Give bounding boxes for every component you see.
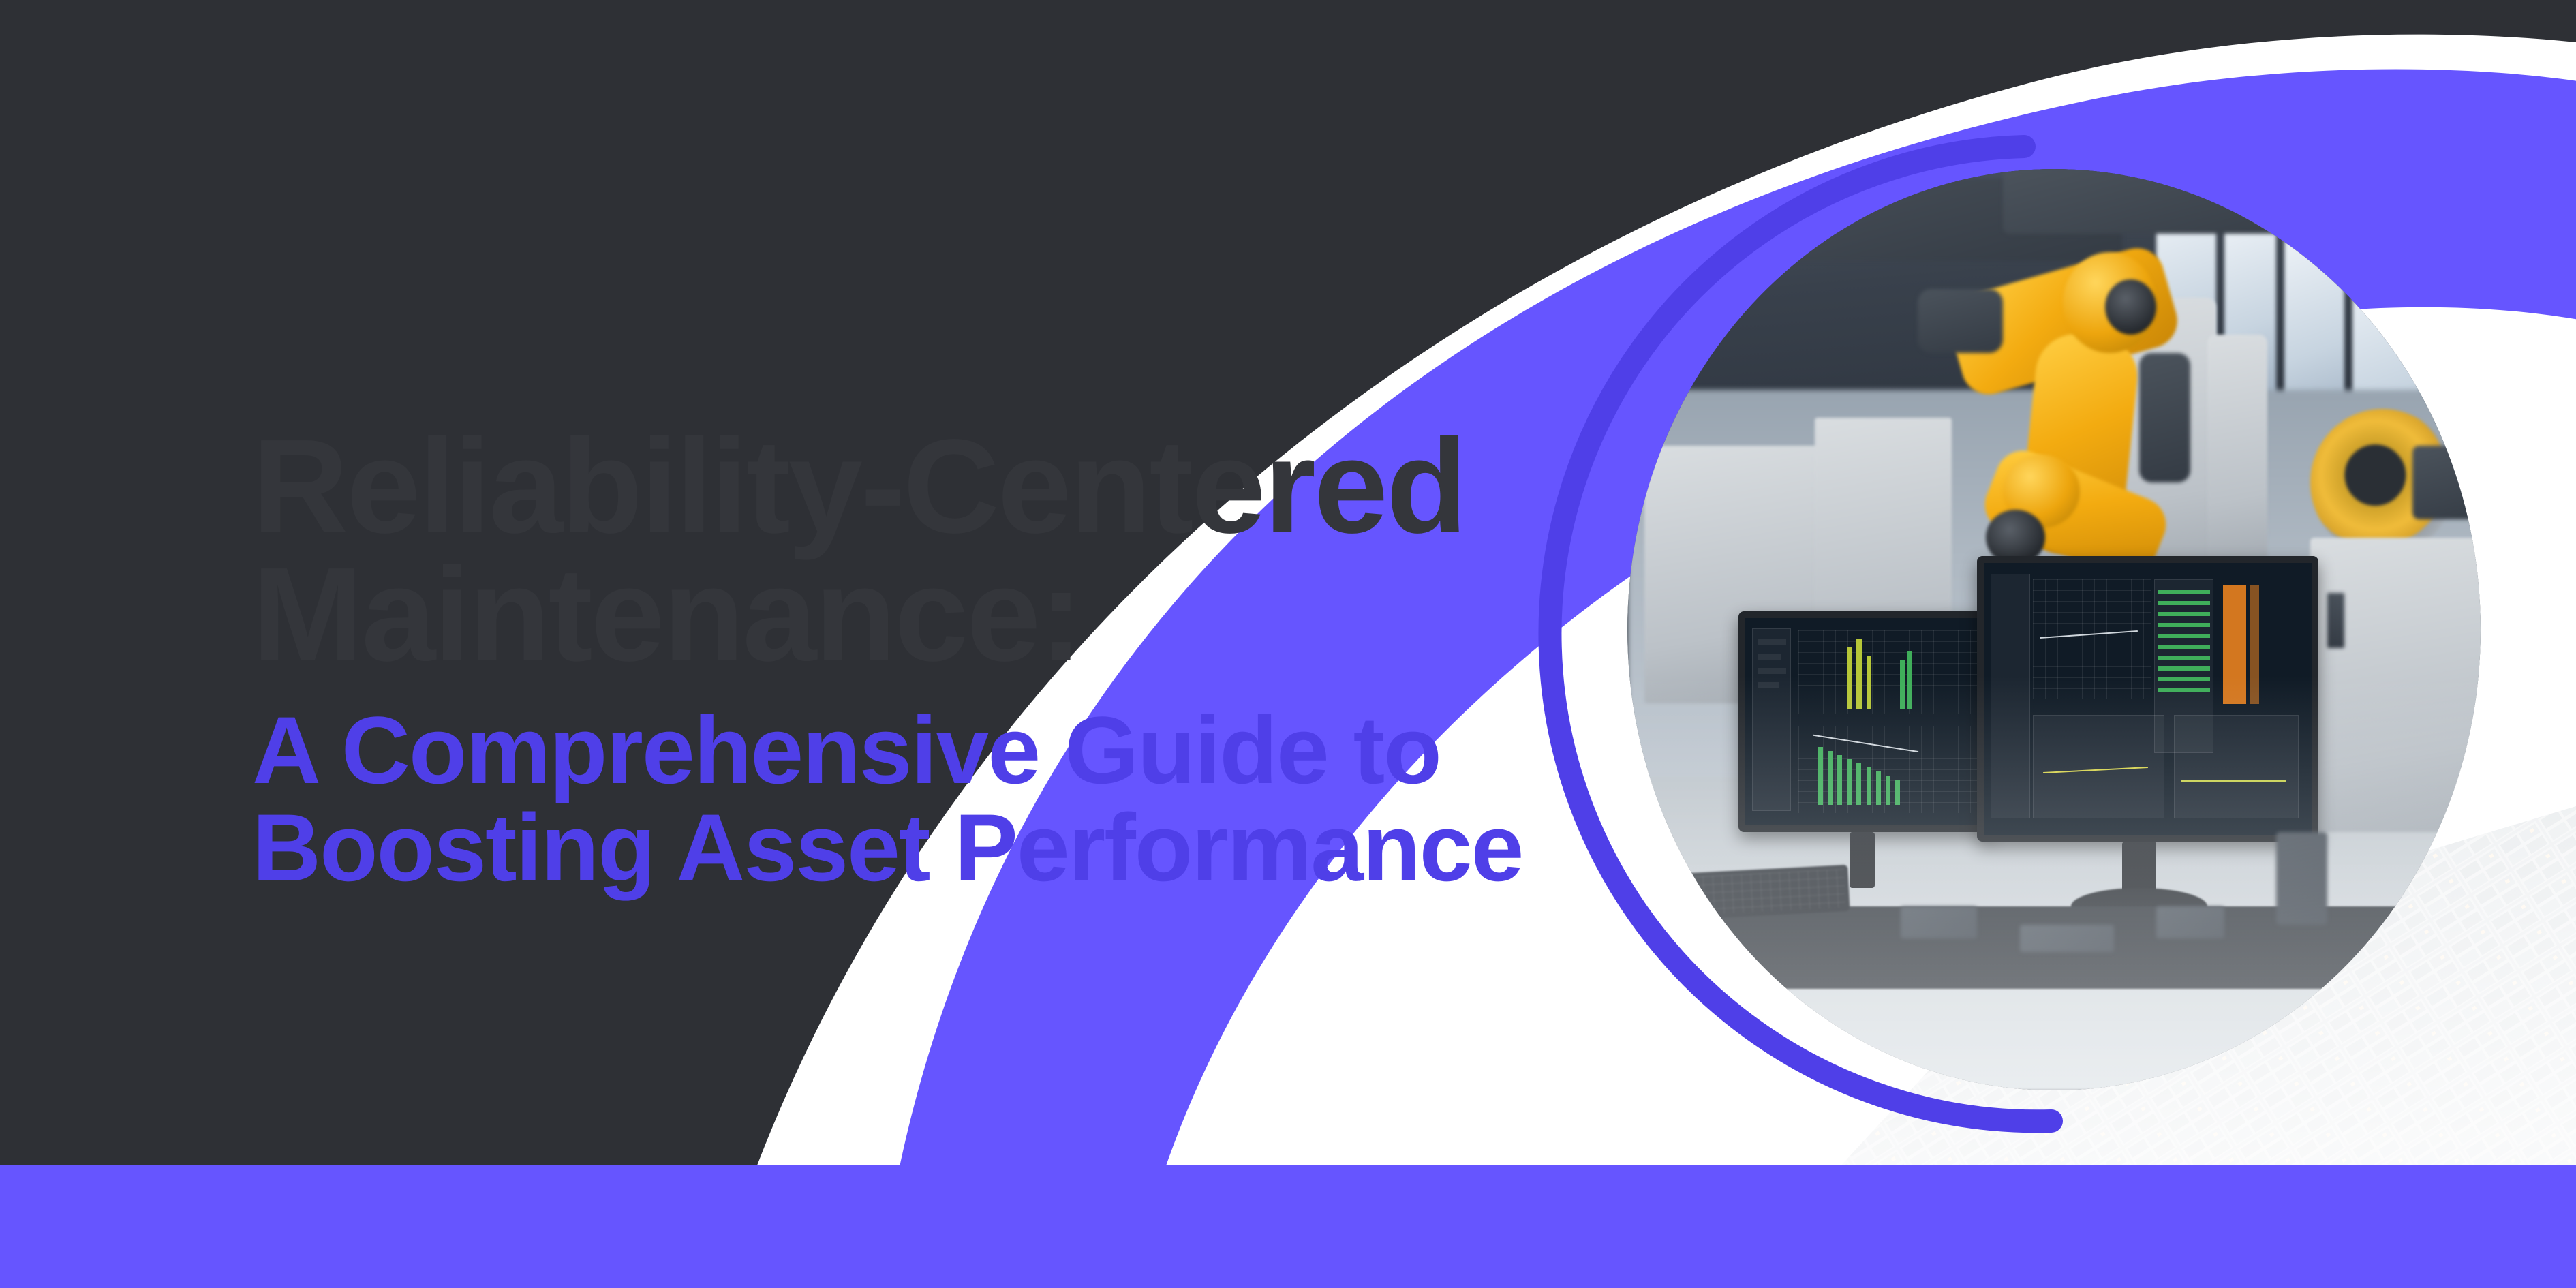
desk-item [1901, 906, 1978, 938]
chart-trend-line [2181, 780, 2286, 782]
screen-row [1758, 639, 1787, 645]
table-row [2158, 623, 2210, 627]
heat-column [2250, 585, 2259, 705]
heat-column [2223, 585, 2246, 705]
factory-scene [1627, 169, 2481, 1090]
desk-item [2156, 906, 2224, 938]
subtitle-line-2: Boosting Asset Performance [252, 799, 1656, 897]
screen-left [1745, 618, 1988, 825]
table-row [2158, 645, 2210, 649]
chart-bar [1895, 780, 1900, 805]
desk-item [2020, 925, 2114, 953]
chart-bar [1828, 751, 1833, 805]
chart-bar [1900, 660, 1904, 709]
table-row [2158, 590, 2210, 594]
screen-row [1758, 668, 1787, 674]
monitor-right [1977, 556, 2318, 842]
ceiling-beam [2003, 169, 2395, 234]
chart-bar [1867, 767, 1871, 805]
title-line-1: Reliability-Centered [252, 423, 1656, 551]
table-row [2158, 612, 2210, 616]
screen-row [1758, 682, 1779, 688]
monitor-left [1738, 611, 1995, 832]
chart-bar [1886, 776, 1890, 805]
robot-cable [1918, 289, 2003, 354]
chart-bar [1907, 651, 1912, 709]
subtitle-line-1: A Comprehensive Guide to [252, 702, 1656, 799]
chart-bar [1856, 763, 1861, 805]
robot-motor [2105, 279, 2156, 335]
roller-shaft [2412, 446, 2481, 519]
keyboard-keys [1665, 869, 1846, 916]
screen-chart-grid [2033, 579, 2151, 699]
chart-bar [1818, 747, 1822, 805]
chart-bar [1867, 656, 1872, 709]
chart-bar [1837, 755, 1842, 805]
robot-cable [2139, 353, 2190, 482]
cnc-cabinet [2310, 538, 2481, 833]
screen-sidebar [1991, 574, 2030, 818]
headline-block: Reliability-Centered Maintenance: A Comp… [252, 423, 1656, 897]
chart-bar [1847, 759, 1852, 805]
table-row [2158, 688, 2210, 692]
chart-bar [1847, 647, 1852, 709]
chart-bar [1876, 771, 1881, 805]
title-line-2: Maintenance: [252, 551, 1656, 679]
screen-row [1758, 654, 1782, 660]
monitor-stand-left [1850, 832, 1875, 887]
hero-banner: Reliability-Centered Maintenance: A Comp… [0, 0, 2576, 1288]
page-title: Reliability-Centered Maintenance: [252, 423, 1656, 679]
table-row [2158, 677, 2210, 681]
chart-bar [1856, 639, 1862, 709]
page-subtitle: A Comprehensive Guide to Boosting Asset … [252, 702, 1656, 897]
background-column [2207, 335, 2267, 565]
hero-photo [1627, 169, 2481, 1090]
table-row [2158, 666, 2210, 670]
desk-equipment [2276, 832, 2327, 924]
table-row [2158, 634, 2210, 638]
keyboard [1660, 864, 1850, 920]
screen-chart-grid [1798, 630, 1978, 714]
table-row [2158, 601, 2210, 605]
table-row [2158, 656, 2210, 660]
screen-right [1984, 563, 2312, 835]
purple-bottom-bar [0, 1165, 2576, 1288]
chart-panel [2174, 715, 2299, 818]
cabinet-handle [2327, 593, 2344, 648]
